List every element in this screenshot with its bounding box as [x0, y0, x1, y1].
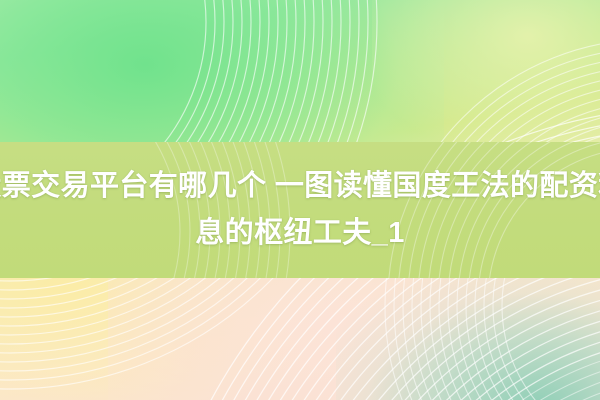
- background-topright-glow: [372, 0, 600, 144]
- headline: 股票交易平台有哪几个 一图读懂国度王法的配资利 息的枢纽工夫_1: [0, 142, 600, 278]
- background-teal-glow: [336, 272, 600, 400]
- headline-line-1: 股票交易平台有哪几个 一图读懂国度王法的配资利: [0, 163, 600, 210]
- headline-line-2: 息的枢纽工夫_1: [195, 210, 404, 257]
- promo-banner: 股票交易平台有哪几个 一图读懂国度王法的配资利 息的枢纽工夫_1: [0, 0, 600, 400]
